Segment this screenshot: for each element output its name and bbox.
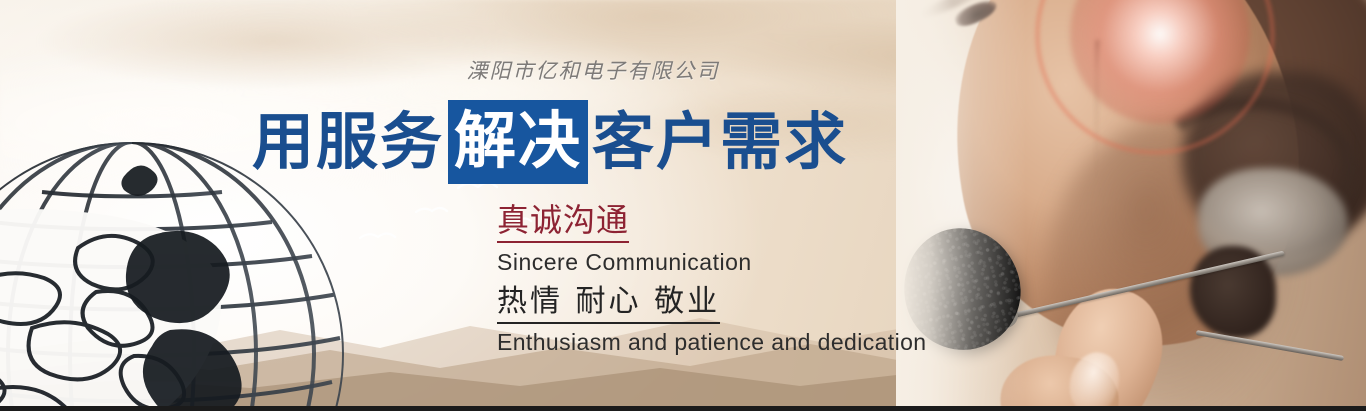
hero-banner: 溧阳市亿和电子有限公司 用服务 解决 客户需求 真诚沟通 Sincere Com… bbox=[0, 0, 1366, 411]
headline-trail: 客户需求 bbox=[592, 105, 848, 179]
company-name: 溧阳市亿和电子有限公司 bbox=[0, 55, 1366, 85]
tagline-1-cn: 真诚沟通 bbox=[497, 200, 629, 243]
tagline-1-en: Sincere Communication bbox=[497, 247, 927, 277]
tagline-2-cn: 热情 耐心 敬业 bbox=[497, 283, 720, 324]
headline-lead: 用服务 bbox=[252, 105, 444, 179]
headline: 用服务 解决 客户需求 bbox=[252, 100, 848, 184]
headline-highlight: 解决 bbox=[448, 100, 588, 184]
bottom-bar bbox=[0, 406, 1366, 411]
tagline-block: 真诚沟通 Sincere Communication 热情 耐心 敬业 Enth… bbox=[497, 200, 927, 357]
tagline-2-en: Enthusiasm and patience and dedication bbox=[497, 327, 927, 357]
